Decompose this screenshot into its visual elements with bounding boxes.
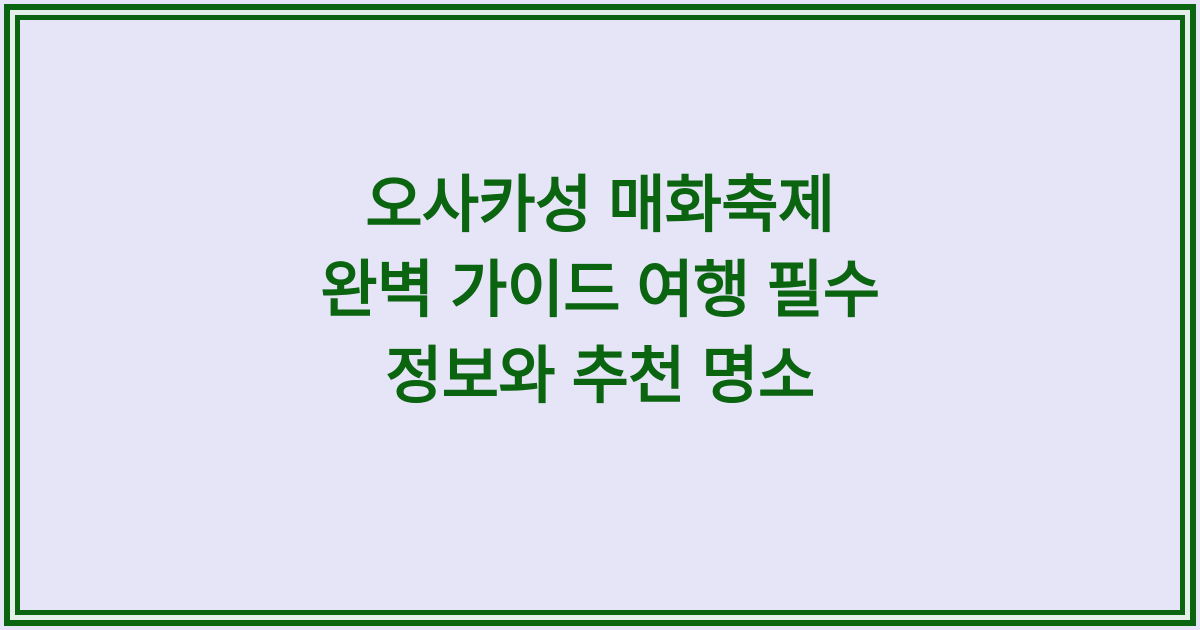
- thumbnail-card: 오사카성 매화축제 완벽 가이드 여행 필수 정보와 추천 명소: [0, 0, 1200, 630]
- page-title-line-3: 정보와 추천 명소: [60, 334, 1140, 420]
- page-title-line-2: 완벽 가이드 여행 필수: [60, 248, 1140, 334]
- inner-border-frame: 오사카성 매화축제 완벽 가이드 여행 필수 정보와 추천 명소: [15, 15, 1185, 615]
- page-title: 오사카성 매화축제 완벽 가이드 여행 필수 정보와 추천 명소: [20, 163, 1180, 420]
- page-title-line-1: 오사카성 매화축제: [60, 163, 1140, 249]
- outer-border-frame: 오사카성 매화축제 완벽 가이드 여행 필수 정보와 추천 명소: [4, 4, 1196, 626]
